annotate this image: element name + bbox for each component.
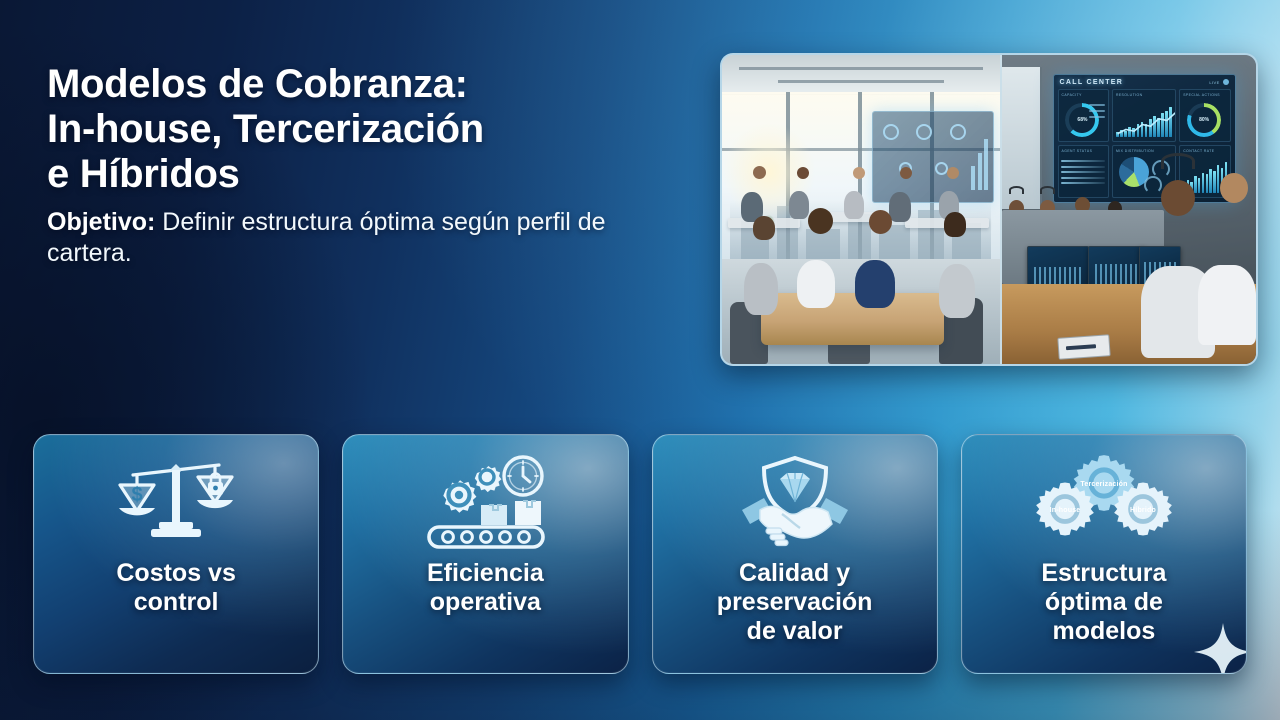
gear-tag-hibrido: Híbrido	[1130, 507, 1156, 514]
office-meeting-scene	[722, 55, 1000, 364]
objective-text: Objetivo: Definir estructura óptima segú…	[47, 207, 667, 270]
hero-photo: CALL CENTER LIVE CAPACITY 68%	[720, 53, 1258, 366]
three-gears-models-icon: Tercerización In-house Híbrido	[1031, 453, 1177, 549]
card-label: Costos vs control	[116, 559, 235, 617]
slide-root: Modelos de Cobranza: In-house, Terceriza…	[0, 0, 1280, 720]
card-calidad-preservacion-valor[interactable]: Calidad y preservación de valor	[652, 434, 938, 674]
dashboard-status-dot	[1223, 79, 1229, 85]
office-hud-panel	[872, 111, 994, 204]
title-line-2: In-house, Tercerización	[47, 107, 667, 152]
card-costos-vs-control[interactable]: $ Costos vs control	[33, 434, 319, 674]
conveyor-gears-clock-icon	[419, 453, 551, 549]
headline-block: Modelos de Cobranza: In-house, Terceriza…	[47, 62, 667, 270]
card-eficiencia-operativa[interactable]: Eficiencia operativa	[342, 434, 628, 674]
dashboard-cell-agent-status: AGENT STATUS	[1058, 145, 1109, 198]
call-center-scene: CALL CENTER LIVE CAPACITY 68%	[1000, 55, 1256, 364]
sparkle-icon	[1192, 621, 1247, 674]
title-line-3: e Híbridos	[47, 152, 667, 197]
dashboard-stamp: LIVE	[1209, 80, 1219, 85]
objective-label: Objetivo:	[47, 208, 155, 236]
dashboard-cell-special-actions: SPECIAL ACTIONS 80%	[1179, 89, 1230, 142]
feature-cards-row: $ Costos vs control	[33, 434, 1247, 674]
card-label: Eficiencia operativa	[427, 559, 544, 617]
title-line-1: Modelos de Cobranza:	[47, 62, 667, 107]
shield-diamond-handshake-icon	[736, 453, 854, 549]
card-label: Calidad y preservación de valor	[717, 559, 873, 646]
balance-scale-icon: $	[117, 453, 235, 549]
call-center-dashboard: CALL CENTER LIVE CAPACITY 68%	[1053, 74, 1236, 204]
gear-tag-in-house: In-house	[1049, 507, 1080, 514]
gear-tag-tercerizacion: Tercerización	[1080, 481, 1127, 488]
card-estructura-optima-modelos[interactable]: Tercerización In-house Híbrido	[961, 434, 1247, 674]
svg-text:$: $	[132, 484, 143, 506]
page-title: Modelos de Cobranza: In-house, Terceriza…	[47, 62, 667, 198]
dashboard-title: CALL CENTER	[1060, 79, 1124, 86]
dashboard-cell-capacity: CAPACITY 68%	[1058, 89, 1109, 142]
dashboard-cell-resolution: RESOLUTION	[1112, 89, 1176, 142]
trend-line-icon	[1116, 104, 1176, 137]
gauge-icon-secondary	[1144, 176, 1162, 194]
card-label: Estructura óptima de modelos	[1041, 559, 1166, 646]
